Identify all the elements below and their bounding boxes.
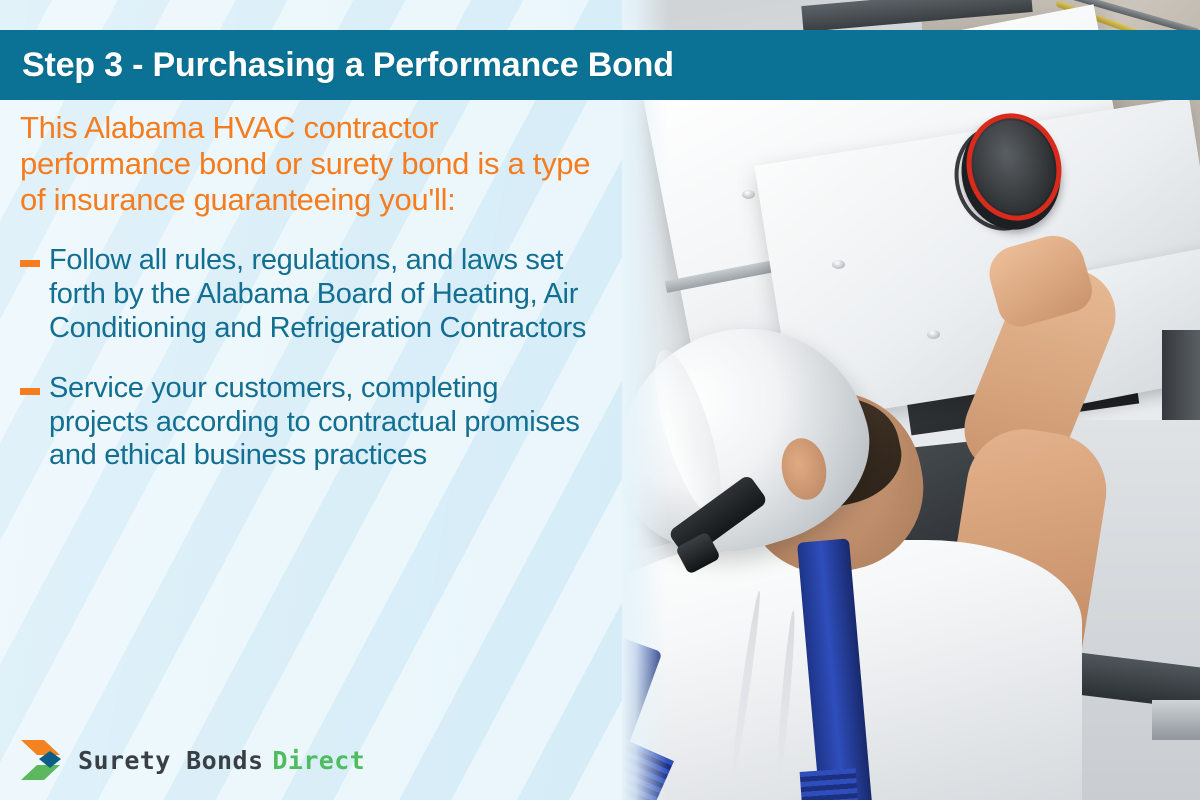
header-band: Step 3 - Purchasing a Performance Bond bbox=[0, 30, 1200, 100]
photo-left-edge-fade bbox=[622, 0, 668, 800]
hvac-technician-photo bbox=[622, 0, 1200, 800]
brand-logo: Surety Bonds Direct bbox=[20, 738, 365, 782]
page-title: Step 3 - Purchasing a Performance Bond bbox=[0, 46, 674, 85]
logo-accent-text: Direct bbox=[272, 746, 365, 775]
dash-bullet-icon bbox=[20, 260, 40, 267]
logo-primary-text: Surety Bonds bbox=[78, 746, 263, 775]
logo-wordmark: Surety Bonds Direct bbox=[78, 746, 365, 775]
photo-duct-screw bbox=[927, 330, 940, 339]
guarantee-list: Follow all rules, regulations, and laws … bbox=[20, 244, 596, 474]
photo-suspender-elastic-right bbox=[800, 768, 861, 800]
list-item-label: Follow all rules, regulations, and laws … bbox=[49, 244, 596, 346]
photo-right-vent bbox=[1152, 700, 1200, 740]
photo-duct-screw bbox=[832, 260, 845, 269]
dash-bullet-icon bbox=[20, 388, 40, 395]
list-item: Service your customers, completing proje… bbox=[20, 372, 596, 474]
intro-paragraph: This Alabama HVAC contractor performance… bbox=[20, 110, 596, 218]
photo-duct-screw bbox=[742, 190, 755, 199]
infographic-canvas: Step 3 - Purchasing a Performance Bond T… bbox=[0, 0, 1200, 800]
list-item-label: Service your customers, completing proje… bbox=[49, 372, 596, 474]
content-column: This Alabama HVAC contractor performance… bbox=[0, 110, 620, 720]
chevron-arrow-icon bbox=[20, 738, 66, 782]
list-item: Follow all rules, regulations, and laws … bbox=[20, 244, 596, 346]
